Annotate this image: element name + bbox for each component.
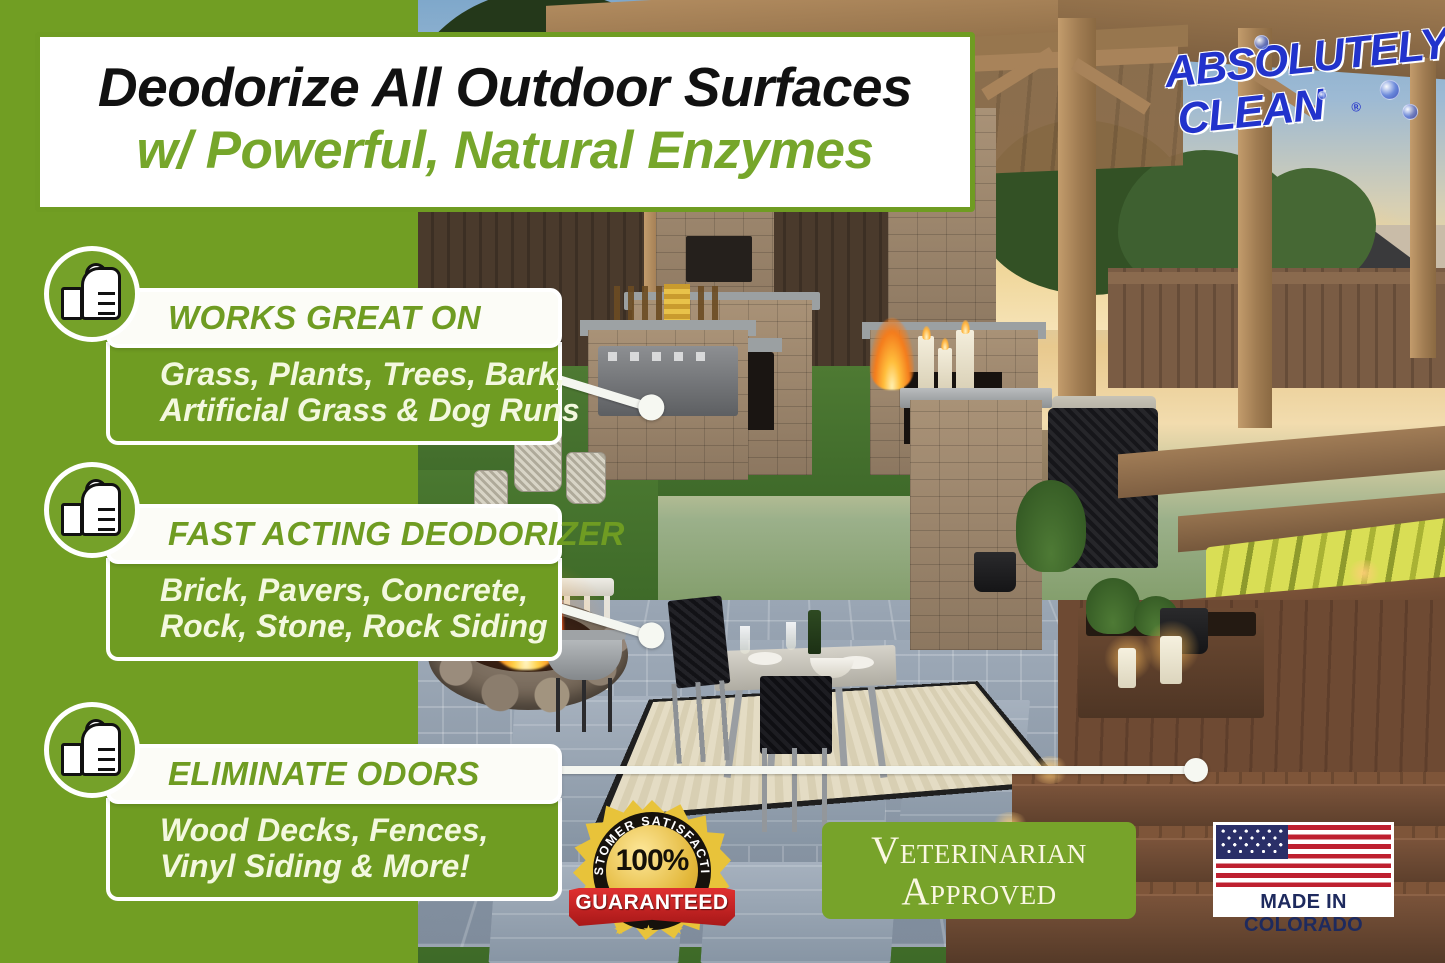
candle-flame — [922, 326, 931, 340]
planter-pot — [974, 552, 1016, 592]
headline-line-2: w/ Powerful, Natural Enzymes — [136, 123, 873, 179]
wine-glass — [740, 626, 750, 654]
usa-flag-icon — [1216, 825, 1391, 887]
plate — [748, 652, 782, 665]
deck-plant — [1086, 578, 1140, 634]
wine-bottle — [808, 610, 821, 654]
thumb-knuckle-line — [98, 768, 115, 771]
veterinarian-approved-badge: Veterinarian Approved — [822, 822, 1136, 919]
feature-heading: FAST ACTING DEODORIZER — [106, 504, 562, 564]
feature-heading: ELIMINATE ODORS — [106, 744, 562, 804]
thumbs-up-icon — [44, 462, 140, 558]
wood-fence-right — [1108, 268, 1445, 388]
pillar-candle — [1118, 648, 1136, 688]
deck-light — [1346, 560, 1382, 586]
patio-chair — [760, 676, 832, 754]
bubble-icon — [1401, 103, 1419, 121]
candle-flame — [941, 338, 949, 350]
flag-caption: MADE IN COLORADO — [1216, 891, 1391, 937]
thumbs-up-glyph — [61, 723, 123, 777]
chair-legs — [671, 680, 730, 764]
candle — [918, 336, 934, 392]
pillar-candle — [1160, 636, 1182, 684]
thumb-cuff-part — [61, 503, 83, 536]
flag-stars — [1216, 825, 1288, 859]
deck-bench-back — [1118, 426, 1445, 499]
thumb-knuckle-line — [98, 312, 115, 315]
feature-card: WORKS GREAT ON Grass, Plants, Trees, Bar… — [106, 288, 562, 445]
wine-glass — [786, 622, 796, 650]
towel — [664, 284, 690, 324]
feature-card: FAST ACTING DEODORIZER Brick, Pavers, Co… — [106, 504, 562, 661]
thumb-knuckle-line — [98, 758, 115, 761]
thumbs-up-glyph — [61, 483, 123, 537]
vet-line-1: Veterinarian — [871, 831, 1087, 870]
thumb-hand-part — [81, 723, 121, 776]
fence-rail — [1108, 272, 1445, 284]
thumbs-up-icon — [44, 246, 140, 342]
product-advertisement: Deodorize All Outdoor Surfaces w/ Powerf… — [0, 0, 1445, 963]
feature-body-line-2: Rock, Stone, Rock Siding — [160, 608, 546, 644]
thumb-knuckle-line — [98, 748, 115, 751]
thumb-hand-part — [81, 267, 121, 320]
feature-body-line-2: Vinyl Siding & More! — [160, 848, 546, 884]
thumb-hand-part — [81, 483, 121, 536]
seal-percent: 100% — [606, 844, 698, 878]
thumb-cuff-part — [61, 743, 83, 776]
chair-legs — [762, 748, 832, 832]
thumbs-up-glyph — [61, 267, 123, 321]
candle — [956, 330, 974, 392]
patio-chair — [668, 595, 731, 688]
grill-knobs — [608, 352, 718, 361]
thumb-knuckle-line — [98, 518, 115, 521]
pointer-line — [500, 766, 1200, 774]
feature-body: Grass, Plants, Trees, Bark, Artificial G… — [106, 342, 562, 445]
thumb-knuckle-line — [98, 508, 115, 511]
lantern-basket — [566, 452, 606, 504]
thumb-cuff-part — [61, 287, 83, 320]
feature-body-line-2: Artificial Grass & Dog Runs — [160, 392, 546, 428]
registered-trademark-icon: ® — [1351, 99, 1362, 115]
thumb-knuckle-line — [98, 302, 115, 305]
thumb-knuckle-line — [98, 292, 115, 295]
made-in-colorado-badge: MADE IN COLORADO — [1213, 822, 1394, 917]
feature-body-line-1: Brick, Pavers, Concrete, — [160, 572, 546, 608]
candle — [938, 348, 952, 392]
feature-body-line-1: Wood Decks, Fences, — [160, 812, 546, 848]
vet-line-2: Approved — [901, 872, 1056, 911]
headline-line-1: Deodorize All Outdoor Surfaces — [98, 60, 912, 115]
feature-card: ELIMINATE ODORS Wood Decks, Fences, Viny… — [106, 744, 562, 901]
headline-banner: Deodorize All Outdoor Surfaces w/ Powerf… — [35, 32, 975, 212]
feature-heading: WORKS GREAT ON — [106, 288, 562, 348]
feature-body-line-1: Grass, Plants, Trees, Bark, — [160, 356, 546, 392]
seal-stars-icon: ★ ★ ★ — [573, 922, 731, 938]
seal-ribbon-label: GUARANTEED — [575, 891, 728, 915]
chimney-vent — [686, 236, 752, 282]
pointer-dot — [1184, 758, 1208, 782]
kettle-stand — [556, 678, 614, 732]
potted-plant — [1016, 480, 1086, 572]
feature-body: Wood Decks, Fences, Vinyl Siding & More! — [106, 798, 562, 901]
candle-flame — [961, 320, 970, 334]
satisfaction-guarantee-seal: CUSTOMER SATISFACTION 100% GUARANTEED ★ … — [573, 800, 731, 940]
thumbs-up-icon — [44, 702, 140, 798]
thumb-knuckle-line — [98, 528, 115, 531]
feature-body: Brick, Pavers, Concrete, Rock, Stone, Ro… — [106, 558, 562, 661]
